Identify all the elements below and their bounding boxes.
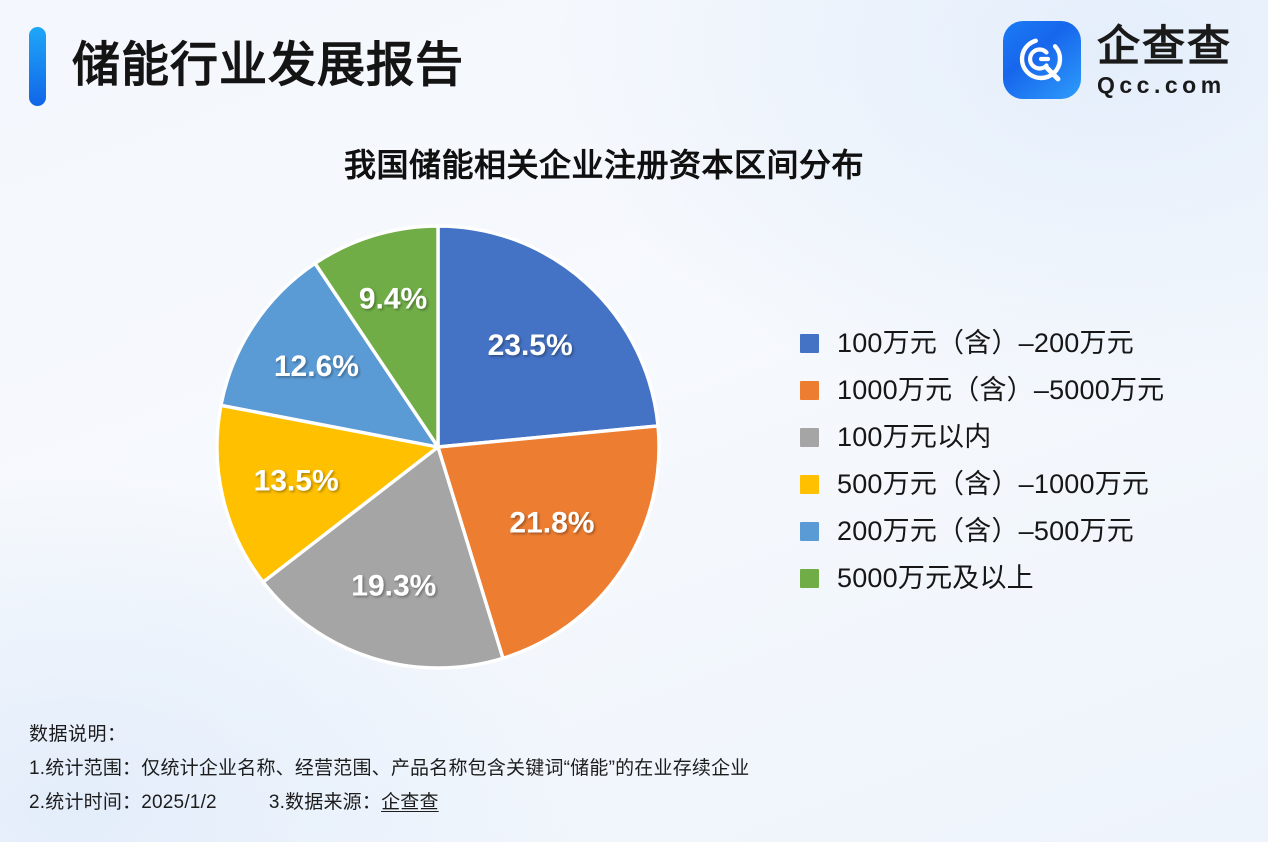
legend-item[interactable]: 200万元（含）–500万元	[800, 515, 1164, 548]
legend-label: 100万元以内	[837, 421, 991, 454]
legend-swatch-icon	[800, 428, 819, 447]
legend-swatch-icon	[800, 475, 819, 494]
pie-slice-label: 13.5%	[254, 464, 339, 497]
note-scope: 1.统计范围：仅统计企业名称、经营范围、产品名称包含关键词“储能”的在业存续企业	[29, 752, 1229, 786]
legend-label: 1000万元（含）–5000万元	[837, 374, 1164, 407]
note-time-label: 2.统计时间：	[29, 786, 141, 820]
note-time-and-source: 2.统计时间： 2025/1/2 3.数据来源： 企查查	[29, 786, 1229, 820]
chart-legend: 100万元（含）–200万元1000万元（含）–5000万元100万元以内500…	[800, 327, 1164, 595]
legend-label: 5000万元及以上	[837, 562, 1034, 595]
legend-label: 500万元（含）–1000万元	[837, 468, 1149, 501]
pie-chart-svg: 23.5%21.8%19.3%13.5%12.6%9.4%	[216, 225, 660, 669]
legend-label: 100万元（含）–200万元	[837, 327, 1134, 360]
qcc-logo-icon	[1003, 21, 1081, 99]
legend-swatch-icon	[800, 522, 819, 541]
legend-item[interactable]: 100万元以内	[800, 421, 1164, 454]
legend-swatch-icon	[800, 381, 819, 400]
brand-name-en: Qcc.com	[1097, 73, 1232, 98]
chart-title: 我国储能相关企业注册资本区间分布	[0, 143, 1208, 187]
legend-label: 200万元（含）–500万元	[837, 515, 1134, 548]
note-source-label: 3.数据来源：	[269, 786, 381, 820]
legend-swatch-icon	[800, 334, 819, 353]
pie-slice-label: 19.3%	[351, 570, 436, 603]
pie-slices	[217, 226, 659, 668]
brand-text: 企查查 Qcc.com	[1097, 23, 1232, 98]
pie-slice-label: 23.5%	[488, 329, 573, 362]
footnotes: 数据说明： 1.统计范围：仅统计企业名称、经营范围、产品名称包含关键词“储能”的…	[29, 718, 1229, 820]
legend-item[interactable]: 1000万元（含）–5000万元	[800, 374, 1164, 407]
brand-name-cn: 企查查	[1097, 23, 1232, 71]
brand-logo: 企查查 Qcc.com	[1003, 21, 1232, 99]
legend-item[interactable]: 100万元（含）–200万元	[800, 327, 1164, 360]
notes-heading: 数据说明：	[29, 718, 1229, 752]
note-time-value: 2025/1/2	[141, 786, 217, 820]
pie-slice-label: 21.8%	[509, 507, 594, 540]
legend-item[interactable]: 500万元（含）–1000万元	[800, 468, 1164, 501]
page-title: 储能行业发展报告	[72, 30, 464, 102]
page-header: 储能行业发展报告 企查查 Qcc.com	[0, 0, 1268, 120]
pie-slice-label: 9.4%	[359, 282, 427, 315]
legend-item[interactable]: 5000万元及以上	[800, 562, 1164, 595]
pie-slice-label: 12.6%	[274, 350, 359, 383]
legend-swatch-icon	[800, 569, 819, 588]
title-accent-bar	[29, 27, 46, 106]
pie-chart: 23.5%21.8%19.3%13.5%12.6%9.4%	[216, 225, 660, 669]
note-source-value[interactable]: 企查查	[381, 786, 439, 820]
